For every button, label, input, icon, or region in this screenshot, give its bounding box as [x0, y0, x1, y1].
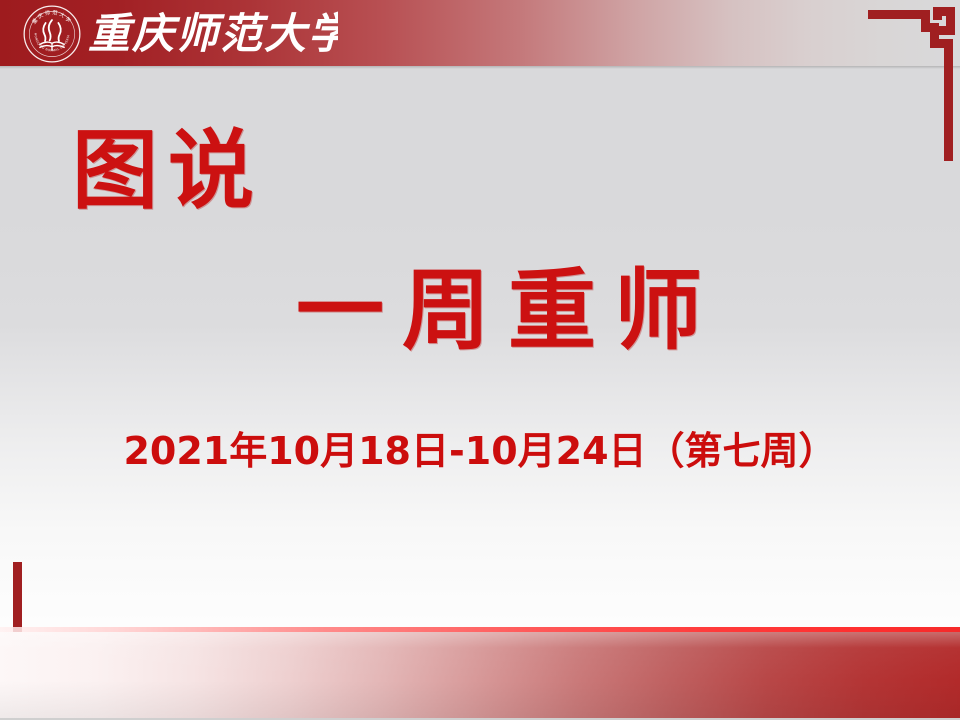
chinese-fret-corner-ornament-top-right: [860, 0, 960, 170]
footer-band-shading: [0, 632, 960, 720]
university-seal-icon: 重庆师范大学 CHONGQING NORMAL UNIVERSITY: [23, 5, 81, 63]
presentation-slide: 重庆师范大学 CHONGQING NORMAL UNIVERSITY 重庆师范大…: [0, 0, 960, 720]
subtitle-date-range: 2021年10月18日-10月24日（第七周）: [0, 420, 960, 475]
university-name-text: 重庆师范大学: [88, 9, 338, 58]
footer-accent-stripe: [0, 627, 960, 632]
university-name-logotype: 重庆师范大学: [88, 4, 338, 62]
footer-band: [0, 627, 960, 720]
title-line-2: 一周重师: [296, 264, 720, 356]
title-line-1: 图说: [72, 126, 264, 216]
header-band-shadow: [0, 66, 960, 69]
